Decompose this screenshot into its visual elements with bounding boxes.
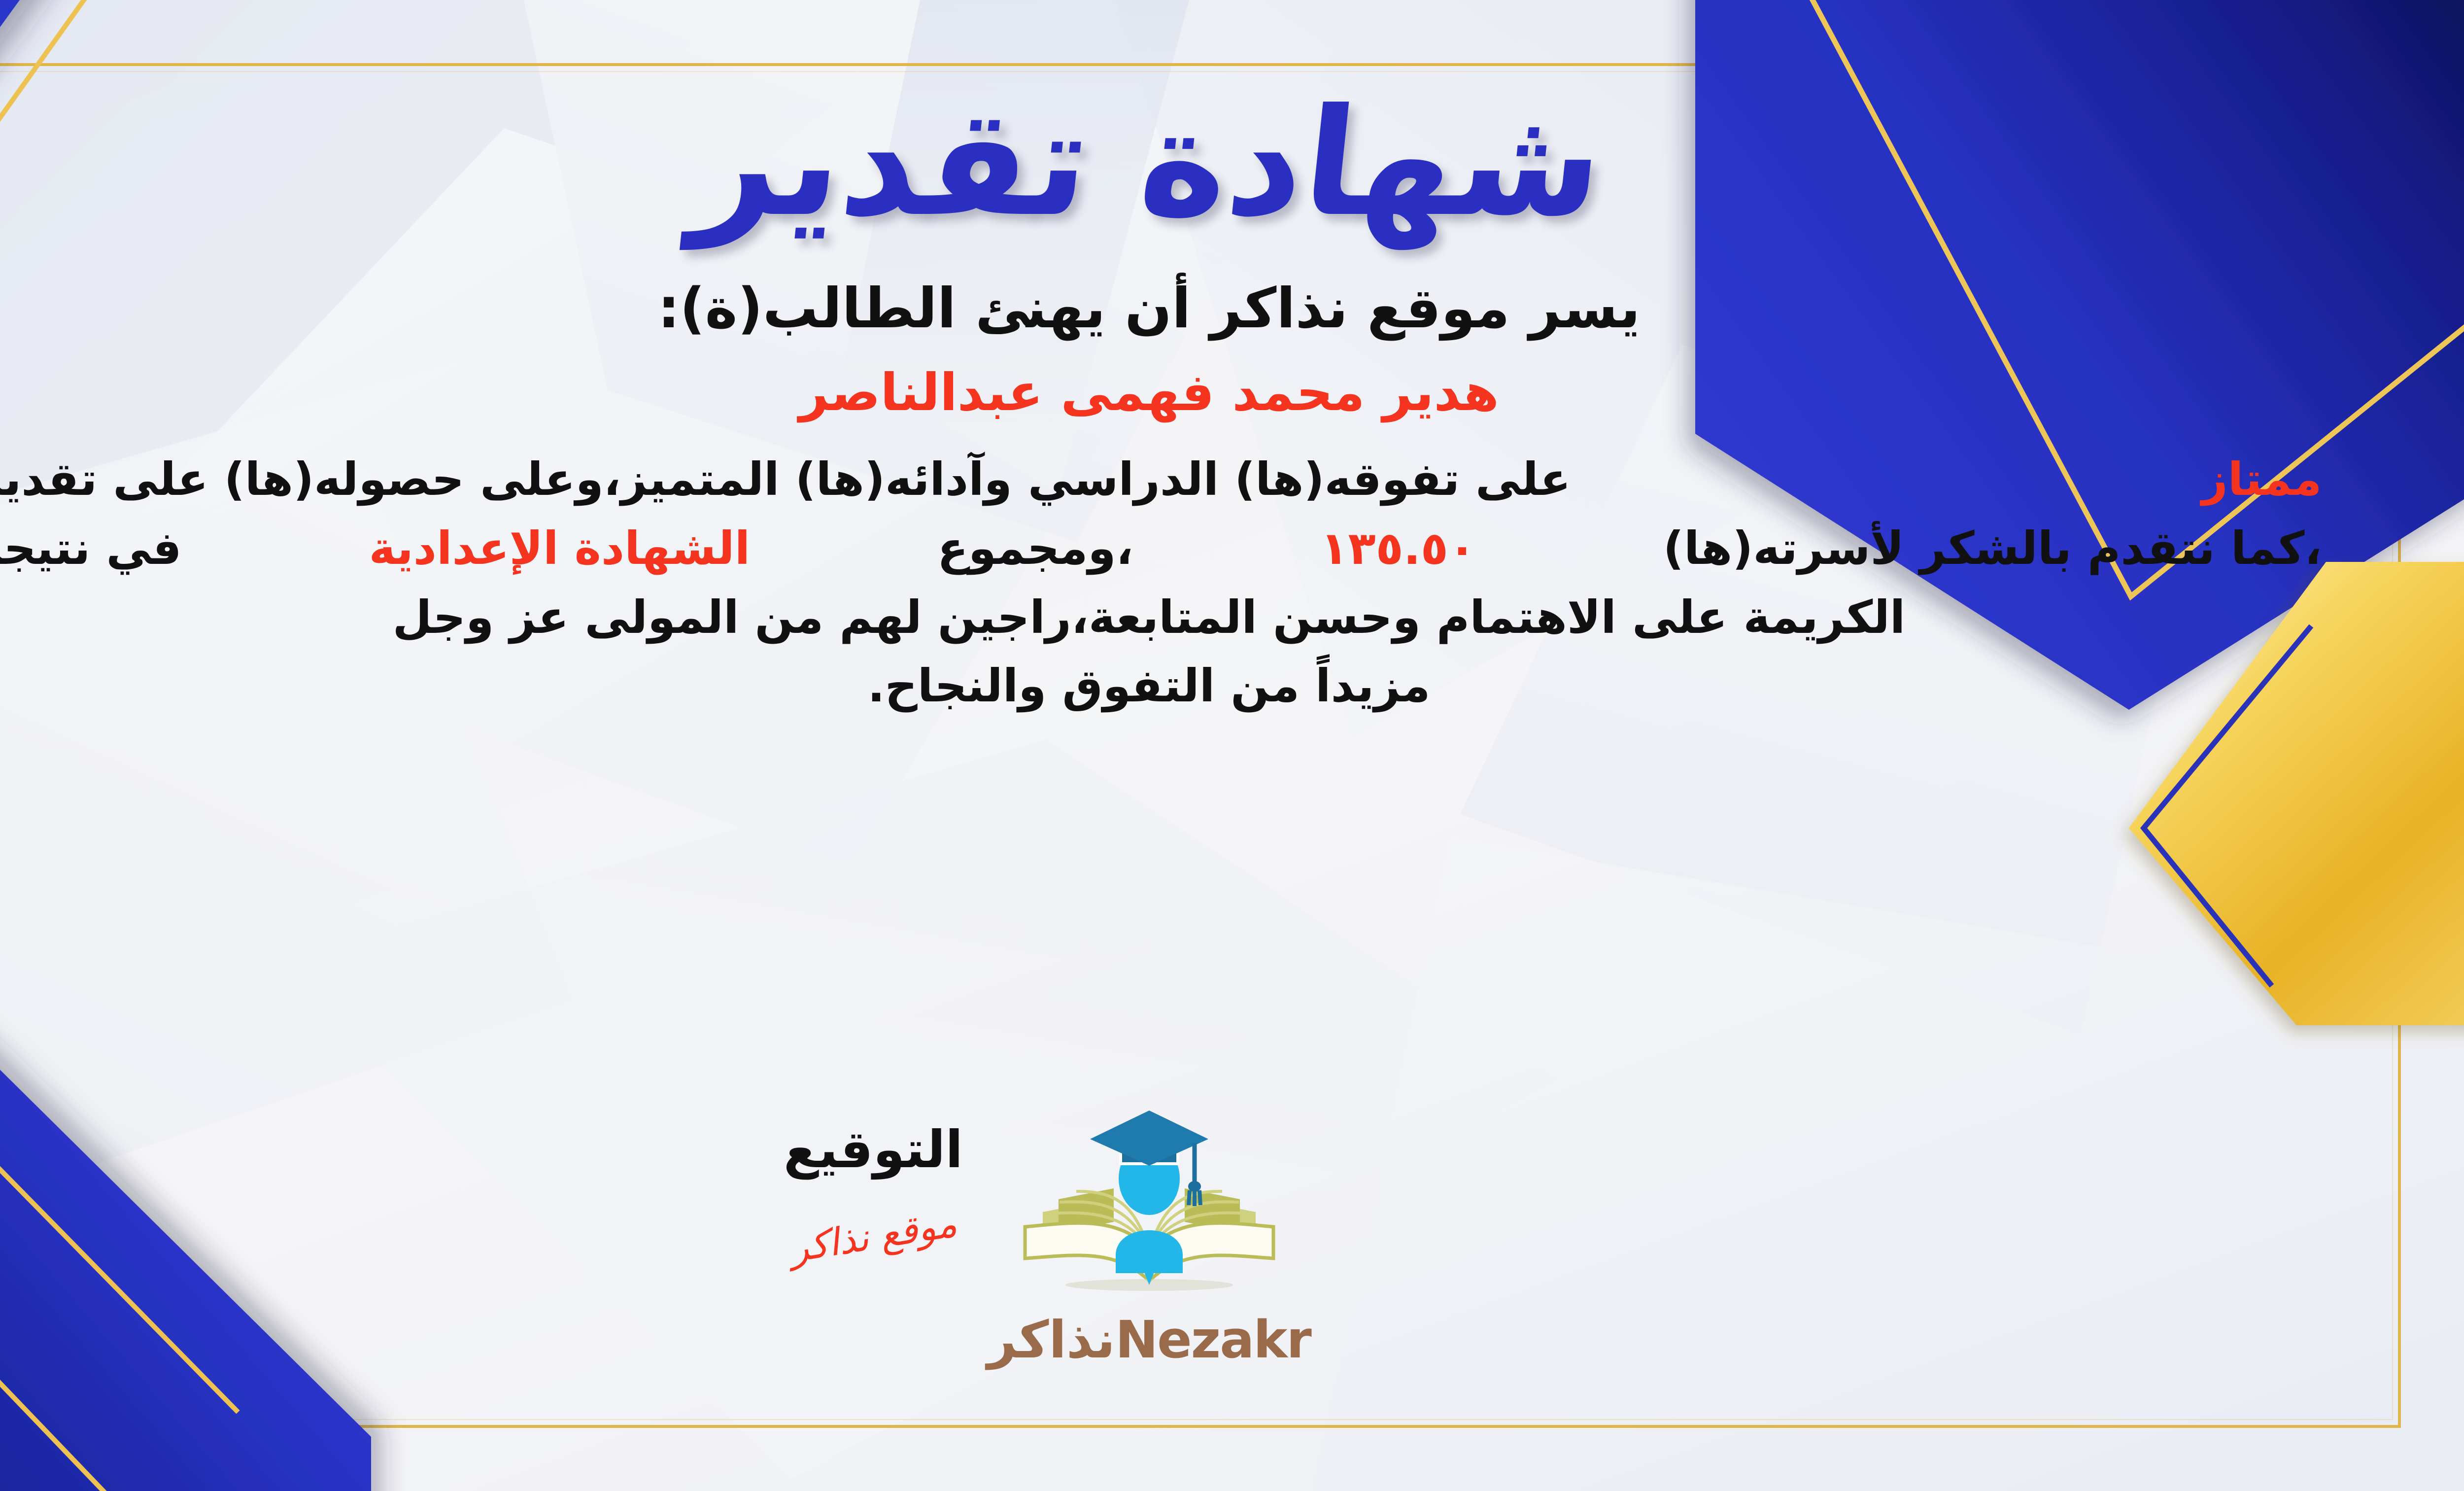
body-line-1-text: على تفوقه(ها) الدراسي وآدائه(ها) المتميز… xyxy=(0,445,1571,514)
body-line-3: الكريمة على الاهتمام وحسن المتابعة،راجين… xyxy=(0,583,2322,652)
graduate-over-open-book-icon xyxy=(1011,1100,1287,1307)
logo-wordmark: Nezakrنذاكر xyxy=(987,1310,1311,1370)
body-paragraph: ممتاز على تفوقه(ها) الدراسي وآدائه(ها) ا… xyxy=(0,445,2322,721)
body-line-2: ،كما نتقدم بالشكر لأسرته(ها) ١٣٥.٥٠ ،ومج… xyxy=(0,514,2322,583)
exam-name: الشهادة الإعدادية xyxy=(369,514,750,583)
body-line-2-mid: ،ومجموع xyxy=(937,514,1133,583)
body-line-4: مزيداً من التفوق والنجاح. xyxy=(0,652,2322,721)
certificate-content: شهادة تقدير يسر موقع نذاكر أن يهنئ الطال… xyxy=(0,63,2401,1428)
total-score-value: ١٣٥.٥٠ xyxy=(1320,514,1476,583)
certificate-title: شهادة تقدير xyxy=(686,78,1612,248)
site-logo: Nezakrنذاكر xyxy=(0,1100,2401,1370)
body-line-2-start: في نتيجة xyxy=(0,514,182,583)
intro-line: يسر موقع نذاكر أن يهنئ الطالب(ة): xyxy=(658,277,1641,341)
certificate: شهادة تقدير يسر موقع نذاكر أن يهنئ الطال… xyxy=(0,0,2464,1491)
body-line-1: ممتاز على تفوقه(ها) الدراسي وآدائه(ها) ا… xyxy=(0,445,2322,514)
body-line-2-end: ،كما نتقدم بالشكر لأسرته(ها) xyxy=(1663,514,2322,583)
certificate-footer: التوقيع موقع نذاكر xyxy=(0,1100,2401,1415)
grade-value: ممتاز xyxy=(2202,445,2322,514)
student-name: هدير محمد فهمى عبدالناصر xyxy=(799,362,1499,422)
